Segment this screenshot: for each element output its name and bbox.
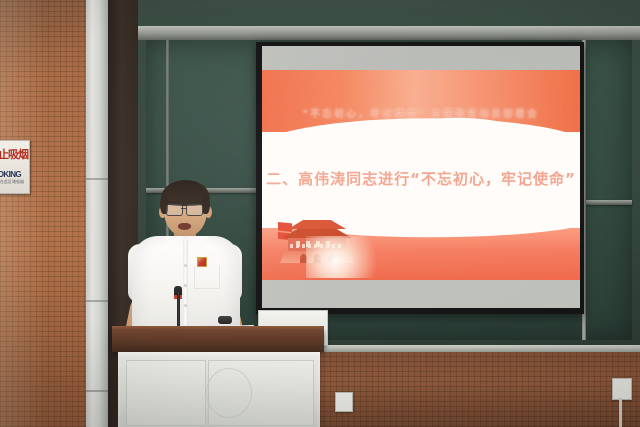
- podium-panel-left: [126, 360, 206, 426]
- no-smoking-sign-subtext: 请勿在此区域吸烟: [0, 179, 24, 185]
- shirt-placket: [183, 240, 188, 340]
- hair-side-right: [202, 194, 210, 214]
- power-outlet-2[interactable]: [335, 392, 353, 412]
- chalk-rail-right: [584, 200, 632, 205]
- party-emblem-badge: [197, 257, 207, 267]
- slide-heading-line-1: 二、高伟涛同志进行“不忘初心，牢记使命”: [262, 168, 580, 189]
- eyeglasses-left-lens: [166, 204, 183, 216]
- left-wall-highlight: [0, 0, 86, 427]
- slide-header-text: “不忘初心，牢记使命” 主题教育动员部署会: [262, 106, 580, 120]
- outlet-conduit: [619, 398, 622, 427]
- projection-screen: “不忘初心，牢记使命” 主题教育动员部署会 二、高伟涛同志进行“不忘初心，牢记使…: [262, 46, 580, 308]
- projector-top-margin: [262, 46, 580, 70]
- speaker-person: [126, 178, 244, 348]
- no-smoking-sign-cn-text: 禁止吸烟: [0, 149, 28, 161]
- power-outlet[interactable]: [612, 378, 632, 400]
- eyeglasses-right-lens: [186, 204, 203, 216]
- wristwatch: [218, 316, 232, 324]
- eyebrow-right: [188, 201, 200, 203]
- conference-room-scene: “不忘初心，牢记使命” 主题教育动员部署会 二、高伟涛同志进行“不忘初心，牢记使…: [0, 0, 640, 427]
- eyebrow-left: [167, 201, 179, 203]
- white-pillar: [86, 0, 108, 427]
- no-smoking-sign: 禁止吸烟 NO SMOKING 请勿在此区域吸烟: [0, 140, 30, 194]
- projector-bottom-margin: [262, 280, 580, 308]
- presentation-slide: “不忘初心，牢记使命” 主题教育动员部署会 二、高伟涛同志进行“不忘初心，牢记使…: [262, 70, 580, 280]
- podium-worktop: [112, 330, 324, 352]
- slide-light-flare: [306, 236, 388, 278]
- podium-emblem-circle: [206, 368, 252, 418]
- mouth: [178, 223, 191, 230]
- eyeglasses-bridge: [181, 208, 187, 209]
- no-smoking-sign-en-text: NO SMOKING: [0, 161, 29, 179]
- shirt-pocket: [194, 266, 220, 289]
- chalkboard-top-frame: [138, 26, 640, 40]
